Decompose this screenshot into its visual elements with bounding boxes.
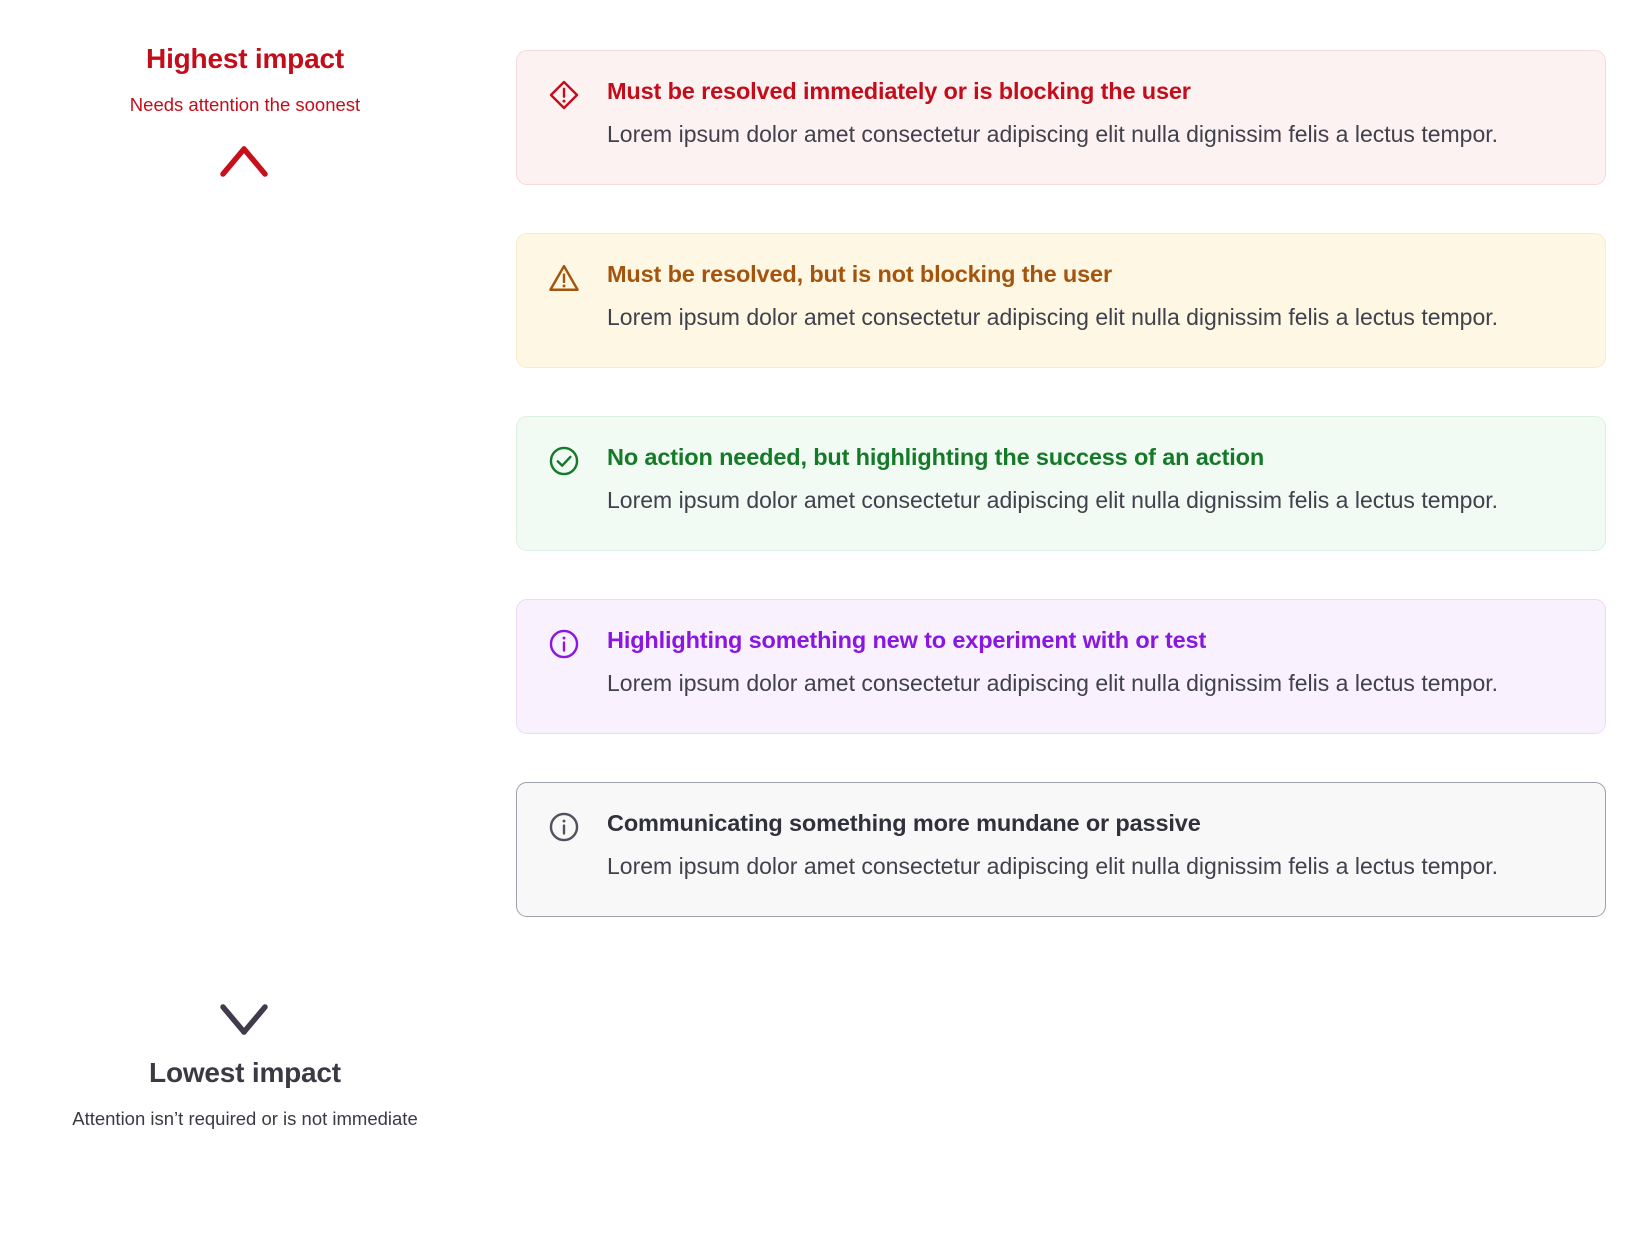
impact-gradient-arrow	[199, 143, 289, 1038]
triangle-exclamation-icon	[547, 261, 581, 295]
alert-description: Lorem ipsum dolor amet consectetur adipi…	[607, 665, 1517, 703]
gradient-double-arrow-icon	[199, 143, 289, 1038]
alert-title: Highlighting something new to experiment…	[607, 626, 1575, 655]
alert-card-critical[interactable]: Must be resolved immediately or is block…	[516, 50, 1606, 185]
alert-card-new[interactable]: Highlighting something new to experiment…	[516, 599, 1606, 734]
alert-description: Lorem ipsum dolor amet consectetur adipi…	[607, 299, 1517, 337]
alert-card-warning[interactable]: Must be resolved, but is not blocking th…	[516, 233, 1606, 368]
diamond-exclamation-icon	[547, 78, 581, 112]
alert-text-block: Highlighting something new to experiment…	[607, 626, 1575, 703]
impact-axis: Highest impact Needs attention the soone…	[0, 0, 490, 1248]
alert-title: Must be resolved immediately or is block…	[607, 77, 1575, 106]
alert-description: Lorem ipsum dolor amet consectetur adipi…	[607, 116, 1517, 154]
alert-title: No action needed, but highlighting the s…	[607, 443, 1575, 472]
alert-description: Lorem ipsum dolor amet consectetur adipi…	[607, 482, 1517, 520]
alert-title: Communicating something more mundane or …	[607, 809, 1575, 838]
alert-text-block: No action needed, but highlighting the s…	[607, 443, 1575, 520]
axis-bottom-labels: Lowest impact Attention isn’t required o…	[0, 1056, 490, 1130]
axis-bottom-title: Lowest impact	[0, 1056, 490, 1090]
info-circle-icon	[547, 810, 581, 844]
alert-card-neutral[interactable]: Communicating something more mundane or …	[516, 782, 1606, 917]
alert-text-block: Must be resolved immediately or is block…	[607, 77, 1575, 154]
alert-description: Lorem ipsum dolor amet consectetur adipi…	[607, 848, 1517, 886]
axis-bottom-subtitle: Attention isn’t required or is not immed…	[0, 1090, 490, 1130]
alert-card-success[interactable]: No action needed, but highlighting the s…	[516, 416, 1606, 551]
alert-variant-list: Must be resolved immediately or is block…	[516, 50, 1606, 917]
info-circle-icon	[547, 627, 581, 661]
check-circle-icon	[547, 444, 581, 478]
alert-text-block: Communicating something more mundane or …	[607, 809, 1575, 886]
alert-text-block: Must be resolved, but is not blocking th…	[607, 260, 1575, 337]
alert-title: Must be resolved, but is not blocking th…	[607, 260, 1575, 289]
axis-top-title: Highest impact	[0, 42, 490, 76]
axis-top-subtitle: Needs attention the soonest	[0, 76, 490, 116]
axis-top-labels: Highest impact Needs attention the soone…	[0, 42, 490, 116]
